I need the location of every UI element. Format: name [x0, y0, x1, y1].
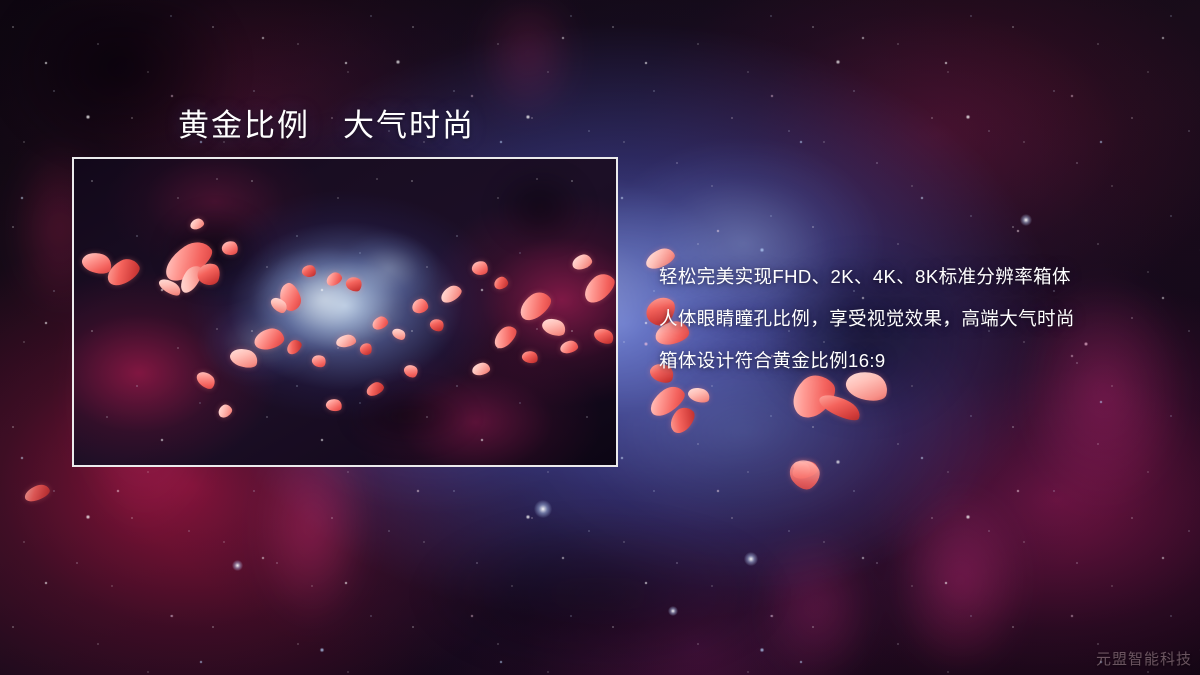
floating-petal	[686, 385, 711, 405]
frame-petal	[521, 349, 539, 365]
slide-canvas: 黄金比例 大气时尚	[0, 0, 1200, 675]
frame-petal	[228, 345, 260, 371]
frame-petal	[592, 325, 616, 346]
frame-petal	[325, 397, 343, 412]
frame-petal	[344, 274, 365, 294]
bright-star-glow	[232, 560, 243, 571]
frame-petal	[221, 239, 240, 256]
frame-petal	[428, 316, 446, 333]
frame-petal	[570, 253, 593, 272]
frame-petal	[310, 353, 328, 370]
floating-petal	[816, 389, 863, 424]
bright-star-glow	[668, 606, 678, 616]
frame-petal	[103, 254, 143, 289]
frame-petal	[216, 402, 234, 419]
frame-petal	[284, 337, 304, 356]
floating-petal	[665, 403, 699, 437]
image-frame[interactable]	[72, 157, 618, 467]
frame-petal	[176, 262, 206, 296]
floating-petal	[22, 482, 51, 504]
frame-petal	[194, 368, 218, 392]
body-line-3: 箱体设计符合黄金比例16:9	[659, 340, 1075, 382]
floating-petal	[785, 454, 826, 495]
frame-dust-lanes	[74, 159, 616, 465]
frame-petal	[301, 264, 317, 278]
frame-petal	[411, 297, 430, 314]
frame-petal	[335, 334, 356, 349]
frame-petal	[540, 315, 568, 339]
frame-petal	[157, 276, 184, 299]
frame-petal	[490, 322, 520, 352]
body-text-block: 轻松完美实现FHD、2K、4K、8K标准分辨率箱体 人体眼睛瞳孔比例，享受视觉效…	[659, 256, 1075, 382]
bright-star-glow	[534, 500, 552, 518]
frame-petal	[159, 235, 218, 287]
floating-petal	[645, 381, 689, 420]
page-title: 黄金比例 大气时尚	[178, 100, 475, 145]
frame-petal	[579, 269, 618, 308]
frame-petal	[390, 326, 407, 342]
frame-petal	[276, 281, 304, 314]
bright-star-glow	[744, 552, 758, 566]
frame-petal	[268, 294, 289, 315]
frame-starfield	[74, 159, 616, 465]
frame-petal	[471, 260, 489, 277]
watermark: 元盟智能科技	[1096, 648, 1192, 669]
frame-nebula-core	[74, 159, 616, 465]
frame-petal	[402, 362, 420, 380]
frame-petal	[471, 362, 491, 377]
body-line-2: 人体眼睛瞳孔比例，享受视觉效果，高端大气时尚	[659, 298, 1075, 340]
frame-petal	[359, 342, 374, 357]
frame-petal	[370, 314, 389, 331]
frame-petal	[189, 217, 205, 231]
floating-petal	[790, 459, 819, 481]
body-line-1: 轻松完美实现FHD、2K、4K、8K标准分辨率箱体	[659, 256, 1075, 298]
frame-petal	[438, 282, 464, 305]
frame-petal	[559, 339, 579, 354]
frame-petal	[324, 270, 344, 288]
frame-petal	[252, 326, 286, 352]
frame-petal	[492, 275, 509, 291]
frame-petal	[515, 287, 555, 325]
frame-nebula-base	[74, 159, 616, 465]
floating-petal	[791, 458, 813, 478]
frame-petal	[195, 260, 223, 288]
frame-petal	[364, 380, 385, 398]
frame-petal	[80, 249, 115, 277]
bright-star-glow	[1020, 214, 1032, 226]
